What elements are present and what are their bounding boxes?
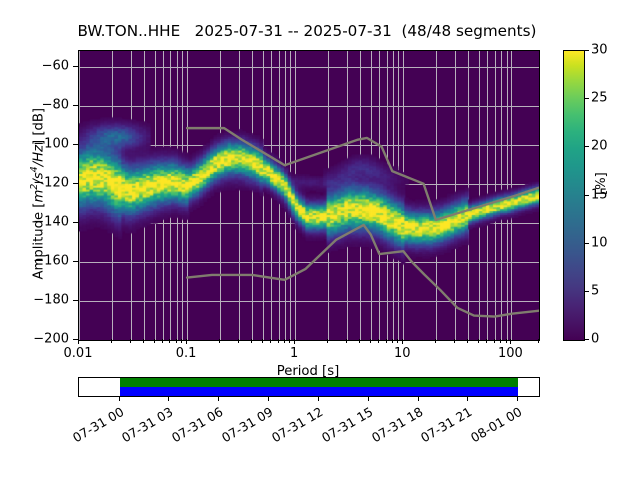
x-axis-tick (289, 339, 290, 343)
timeline-tick (517, 397, 518, 401)
data-coverage-timeline (78, 377, 540, 397)
x-axis-tick-label: 0.01 (64, 346, 93, 361)
colorbar-tick (584, 291, 589, 292)
ppsd-plot-axes (78, 50, 540, 341)
x-axis-tick (454, 339, 455, 343)
x-axis-tick (78, 339, 79, 344)
x-axis-tick (402, 339, 403, 344)
x-axis-tick (378, 339, 379, 343)
timeline-tick-label: 07-31 09 (214, 404, 275, 448)
noise-model-curve (187, 128, 539, 220)
colorbar-tick (584, 50, 589, 51)
timeline-tick-label: 07-31 06 (164, 404, 225, 448)
timeline-tick (467, 397, 468, 401)
noise-model-curve (187, 225, 539, 317)
plot-title: BW.TON..HHE 2025-07-31 -- 2025-07-31 (48… (0, 22, 614, 40)
x-axis-tick (111, 339, 112, 343)
colorbar-tick-label: 30 (591, 43, 608, 58)
x-axis-tick-label: 100 (498, 346, 523, 361)
timeline-tick-label: 08-01 00 (464, 404, 525, 448)
x-axis-tick (154, 339, 155, 343)
y-axis-tick (73, 66, 78, 67)
timeline-tick (268, 397, 269, 401)
peterson-noise-model-curves (79, 51, 539, 340)
x-axis-tick (392, 339, 393, 343)
x-axis-tick (386, 339, 387, 343)
colorbar-tick-label: 0 (591, 332, 599, 347)
colorbar-tick-label: 20 (591, 139, 608, 154)
timeline-tick (318, 397, 319, 401)
x-axis-tick (186, 339, 187, 344)
y-axis-tick (73, 339, 78, 340)
x-axis-tick-label: 10 (394, 346, 411, 361)
timeline-data-bar (120, 378, 519, 387)
timeline-tick-label: 07-31 15 (314, 404, 375, 448)
x-axis-tick-label: 1 (290, 346, 298, 361)
timeline-tick (218, 397, 219, 401)
x-axis-tick (130, 339, 131, 343)
x-axis-tick (238, 339, 239, 343)
x-axis-tick (486, 339, 487, 343)
timeline-tick (418, 397, 419, 401)
timeline-coverage-bar (120, 387, 519, 396)
colorbar-tick (584, 195, 589, 196)
y-axis-tick (73, 300, 78, 301)
x-axis-tick (510, 339, 511, 344)
x-axis-tick-label: 0.1 (176, 346, 197, 361)
y-axis-tick (73, 261, 78, 262)
colorbar-tick (584, 243, 589, 244)
timeline-tick (119, 397, 120, 401)
y-axis-label-suffix: ] [dB] (32, 108, 47, 145)
x-axis-tick (219, 339, 220, 343)
timeline-tick (168, 397, 169, 401)
x-axis-tick (500, 339, 501, 343)
x-axis-tick (478, 339, 479, 343)
x-axis-tick (506, 339, 507, 343)
x-axis-tick (284, 339, 285, 343)
x-axis-tick (270, 339, 271, 343)
x-axis-tick (397, 339, 398, 343)
y-axis-tick (73, 222, 78, 223)
x-axis-tick (294, 339, 295, 344)
x-axis-tick (494, 339, 495, 343)
x-axis-tick (262, 339, 263, 343)
y-axis-tick (73, 183, 78, 184)
x-axis-tick (278, 339, 279, 343)
colorbar-tick-label: 25 (591, 91, 608, 106)
timeline-tick-label: 07-31 03 (115, 404, 176, 448)
x-axis-tick (538, 339, 539, 343)
colorbar-tick (584, 98, 589, 99)
x-axis-tick (251, 339, 252, 343)
y-axis-label: Amplitude [m2/s4/Hz] [dB] (29, 49, 46, 339)
x-axis-tick (176, 339, 177, 343)
x-axis-tick (435, 339, 436, 343)
timeline-tick-label: 07-31 21 (414, 404, 475, 448)
timeline-tick-label: 07-31 12 (264, 404, 325, 448)
x-axis-tick (162, 339, 163, 343)
colorbar-tick (584, 339, 589, 340)
x-axis-tick (327, 339, 328, 343)
colorbar-label: [%] (594, 172, 609, 195)
colorbar-tick-label: 5 (591, 283, 599, 298)
y-axis-label-prefix: Amplitude [ (32, 203, 47, 280)
y-axis-unit: m2/s4/Hz (32, 145, 47, 203)
x-axis-tick (181, 339, 182, 343)
timeline-tick-label: 07-31 18 (364, 404, 425, 448)
x-axis-tick (143, 339, 144, 343)
colorbar-tick-label: 10 (591, 235, 608, 250)
x-axis-tick (346, 339, 347, 343)
y-axis-tick (73, 144, 78, 145)
y-axis-tick (73, 105, 78, 106)
ppsd-plot-canvas (79, 51, 539, 340)
timeline-tick-label: 07-31 00 (65, 404, 126, 448)
x-axis-tick (359, 339, 360, 343)
timeline-tick (368, 397, 369, 401)
colorbar (563, 50, 585, 341)
colorbar-tick (584, 146, 589, 147)
x-axis-tick (370, 339, 371, 343)
x-axis-tick (467, 339, 468, 343)
x-axis-tick (169, 339, 170, 343)
